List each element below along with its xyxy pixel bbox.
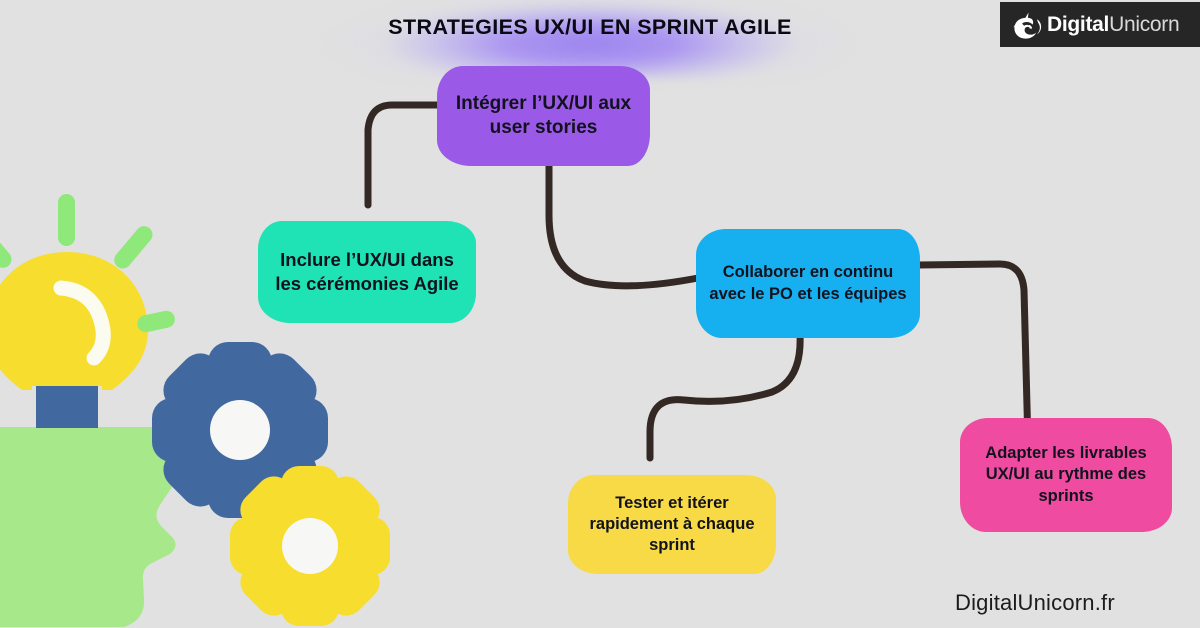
gear-yellow-icon — [230, 466, 390, 626]
node-integrer-label: Intégrer l’UX/UI aux user stories — [449, 92, 638, 141]
page-title: STRATEGIES UX/UI EN SPRINT AGILE — [300, 15, 880, 40]
gear-blue-hub — [210, 400, 270, 460]
logo-text-unicorn: Unicorn — [1109, 13, 1179, 36]
unicorn-head-icon — [1006, 5, 1046, 45]
connector-integrer-to-ceremonies — [368, 105, 437, 205]
node-tester-label: Tester et itérer rapidement à chaque spr… — [580, 493, 764, 556]
node-inclure-ux-ui-ceremonies-agile[interactable]: Inclure l’UX/UI dans les cérémonies Agil… — [258, 221, 476, 323]
digitalunicorn-logo[interactable]: DigitalUnicorn — [1000, 2, 1200, 47]
node-collaborer-po-equipes[interactable]: Collaborer en continu avec le PO et les … — [696, 229, 920, 338]
logo-text-digital: Digital — [1047, 13, 1109, 36]
logo-wordmark: DigitalUnicorn — [1047, 14, 1179, 35]
bulb-base-shape — [36, 386, 98, 428]
node-tester-iterer-chaque-sprint[interactable]: Tester et itérer rapidement à chaque spr… — [568, 475, 776, 574]
gear-yellow-hub — [282, 518, 338, 574]
node-collaborer-label: Collaborer en continu avec le PO et les … — [708, 262, 908, 304]
connector-integrer-to-collaborer — [549, 166, 698, 286]
footer-website-url[interactable]: DigitalUnicorn.fr — [955, 590, 1115, 616]
node-adapter-label: Adapter les livrables UX/UI au rythme de… — [972, 443, 1160, 506]
bulb-glass-shape — [0, 252, 148, 390]
node-ceremonies-label: Inclure l’UX/UI dans les cérémonies Agil… — [270, 248, 464, 295]
connector-collaborer-to-tester — [650, 335, 800, 458]
node-integrer-ux-ui-user-stories[interactable]: Intégrer l’UX/UI aux user stories — [437, 66, 650, 166]
node-adapter-livrables-rythme-sprints[interactable]: Adapter les livrables UX/UI au rythme de… — [960, 418, 1172, 532]
head-silhouette-shape — [0, 427, 180, 627]
